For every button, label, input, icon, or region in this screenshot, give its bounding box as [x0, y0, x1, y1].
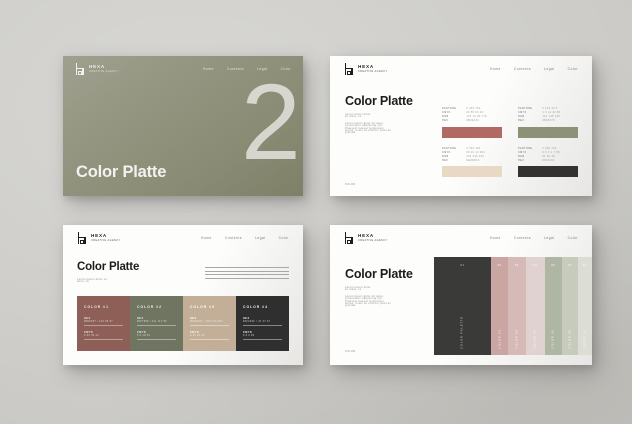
color-chip-4 — [518, 166, 578, 177]
color-chip-3 — [442, 166, 502, 177]
card-value: 0 11 23 24 — [190, 334, 229, 337]
slide-swatch-specs[interactable]: HEXA CREATIVE AGENCY Home Contents Legal… — [330, 56, 592, 196]
rule-line — [205, 278, 289, 279]
card-divider — [84, 325, 123, 326]
spec-rows: PANTONE 2 332 119 CMYK 00 10 14 004 RGB … — [442, 148, 502, 163]
cards-topbar: HEXA CREATIVE AGENCY Home Contents Legal… — [63, 225, 303, 251]
spec-rows: PANTONE 2 145 33 0 CMYK 1 0 14 32 86 RGB… — [518, 108, 578, 123]
spec-key: CMYK — [442, 152, 456, 155]
brand-logo[interactable]: HEXA CREATIVE AGENCY — [75, 63, 119, 75]
color-strip-3[interactable]: 03 COLOR 03 — [508, 257, 525, 355]
nav-item-legal[interactable]: Legal — [255, 236, 266, 240]
nav-item-legal[interactable]: Legal — [544, 67, 555, 71]
color-spec-3[interactable]: PANTONE 2 332 119 CMYK 00 10 14 004 RGB … — [442, 148, 502, 178]
color-chip-1 — [442, 127, 502, 138]
spec-key: RGB — [518, 156, 532, 159]
card-value: 0 0 0 82 — [243, 334, 282, 337]
nav-item-home[interactable]: Home — [203, 67, 214, 71]
color-strip-2[interactable]: 02 COLOR 02 — [491, 257, 508, 355]
brand-wordmark: HEXA CREATIVE AGENCY — [91, 234, 121, 243]
color-card-3[interactable]: COLOR #3 HEX #C3AE97 / 195 174 151 CMYK … — [183, 296, 236, 351]
card-value: #C3AE97 / 195 174 151 — [190, 320, 229, 323]
specs-grid: PANTONE 2 345 762 CMYK 00 55 60 23 RGB 1… — [442, 108, 578, 177]
card-value: #2F2F2F / 47 47 47 — [243, 320, 282, 323]
brand-wordmark: HEXA CREATIVE AGENCY — [358, 234, 388, 243]
cards-nav: Home Contents Legal Color — [201, 236, 289, 240]
nav-item-home[interactable]: Home — [490, 67, 501, 71]
spec-value: 2 332 119 — [466, 148, 502, 151]
cards-subcopy: Lorem ipsum dolor sit amet, co — [77, 279, 137, 284]
strips-topbar: HEXA CREATIVE AGENCY Home Contents Legal… — [330, 225, 592, 251]
nav-item-home[interactable]: Home — [201, 236, 212, 240]
hexa-monogram-icon — [77, 232, 87, 244]
card-divider — [190, 339, 229, 340]
card-value: #8E5F57 / 142 95 87 — [84, 320, 123, 323]
spec-value: #E9D8C3 — [466, 160, 502, 163]
color-strip-5[interactable]: 05 COLOR 05 — [545, 257, 562, 355]
specs-nav: Home Contents Legal Color — [490, 67, 578, 71]
brand-wordmark: HEXA CREATIVE AGENCY — [89, 65, 119, 74]
hexa-monogram-icon — [75, 63, 85, 75]
card-value: 0 33 39 44 — [84, 334, 123, 337]
strip-label: COLOR 05 — [552, 329, 555, 349]
spec-key: PANTONE — [442, 148, 456, 151]
card-label: COLOR #1 — [84, 305, 123, 309]
decorative-rules — [205, 267, 289, 279]
color-spec-2[interactable]: PANTONE 2 145 33 0 CMYK 1 0 14 32 86 RGB… — [518, 108, 578, 138]
spec-value: 00 10 14 004 — [466, 152, 502, 155]
color-strip-6[interactable]: 06 COLOR 06 — [562, 257, 578, 355]
nav-item-contents[interactable]: Contents — [514, 236, 531, 240]
spec-value: #333230 — [542, 160, 578, 163]
cards-title: Color Platte — [77, 261, 139, 273]
nav-item-color[interactable]: Color — [568, 236, 578, 240]
nav-item-legal[interactable]: Legal — [544, 236, 555, 240]
card-divider — [84, 339, 123, 340]
brand-tagline: CREATIVE AGENCY — [358, 71, 388, 74]
card-value: 5 0 18 54 — [137, 334, 176, 337]
hexa-monogram-icon — [344, 63, 354, 75]
brand-logo[interactable]: HEXA CREATIVE AGENCY — [344, 232, 388, 244]
spec-key: HEX — [518, 160, 532, 163]
card-row: HEX #6F7560 / 111 117 96 — [137, 317, 176, 326]
rule-line — [205, 267, 289, 268]
spec-value: 0 0 0 1 7 88 — [542, 152, 578, 155]
card-row: CMYK 0 0 0 82 — [243, 331, 282, 340]
card-row: HEX #2F2F2F / 47 47 47 — [243, 317, 282, 326]
strip-top-label: 04 — [533, 264, 537, 267]
strip-top-label: 03 — [515, 264, 519, 267]
specs-lead-copy: Lorem ipsum dolor sit amet, co Lorem ips… — [345, 114, 423, 135]
spec-rows: PANTONE 2 345 762 CMYK 00 55 60 23 RGB 1… — [442, 108, 502, 123]
spec-value: 51 50 48 — [542, 156, 578, 159]
spec-value: #B06A63 — [466, 120, 502, 123]
specs-footnote: COLOR — [345, 184, 355, 186]
cover-title: Color Platte — [76, 163, 166, 182]
strips-title: Color Platte — [345, 267, 413, 281]
brand-tagline: CREATIVE AGENCY — [358, 240, 388, 243]
lead-line-7: gravida. — [345, 305, 415, 307]
spec-value: #8D9178 — [542, 120, 578, 123]
brand-name: HEXA — [91, 234, 121, 239]
brand-name: HEXA — [89, 65, 119, 70]
brand-tagline: CREATIVE AGENCY — [91, 240, 121, 243]
color-strip-1[interactable]: 01 COLOR PALETTE — [434, 257, 491, 355]
spec-value: 233 216 195 — [466, 156, 502, 159]
cover-slide-number: 2 — [241, 70, 297, 174]
strip-top-label: 02 — [498, 264, 502, 267]
color-strip-4[interactable]: 04 COLOR 04 — [526, 257, 545, 355]
strips-nav: Home Contents Legal Color — [490, 236, 578, 240]
color-card-2[interactable]: COLOR #2 HEX #6F7560 / 111 117 96 CMYK 5… — [130, 296, 183, 351]
gradient-strip-list: 01 COLOR PALETTE 02 COLOR 02 03 COLOR 03… — [434, 257, 592, 355]
specs-topbar: HEXA CREATIVE AGENCY Home Contents Legal… — [330, 56, 592, 82]
spec-key: RGB — [442, 156, 456, 159]
strip-label: COLOR 03 — [515, 329, 518, 349]
strip-label: COLOR 07 — [583, 329, 586, 349]
card-label: COLOR #2 — [137, 305, 176, 309]
hexa-monogram-icon — [344, 232, 354, 244]
color-card-1[interactable]: COLOR #1 HEX #8E5F57 / 142 95 87 CMYK 0 … — [77, 296, 130, 351]
strip-label: COLOR 04 — [534, 329, 537, 349]
card-row: CMYK 0 33 39 44 — [84, 331, 123, 340]
color-card-list: COLOR #1 HEX #8E5F57 / 142 95 87 CMYK 0 … — [77, 296, 289, 351]
card-divider — [243, 325, 282, 326]
strip-label: COLOR 02 — [498, 329, 501, 349]
nav-item-color[interactable]: Color — [568, 67, 578, 71]
brand-logo[interactable]: HEXA CREATIVE AGENCY — [77, 232, 121, 244]
card-divider — [137, 339, 176, 340]
card-value: #6F7560 / 111 117 96 — [137, 320, 176, 323]
card-label: COLOR #4 — [243, 305, 282, 309]
brand-name: HEXA — [358, 65, 388, 70]
brand-logo[interactable]: HEXA CREATIVE AGENCY — [344, 63, 388, 75]
nav-item-color[interactable]: Color — [279, 236, 289, 240]
strip-top-label: 07 — [583, 264, 587, 267]
slide-board: HEXA CREATIVE AGENCY Home Contents Legal… — [0, 0, 632, 424]
nav-item-contents[interactable]: Contents — [514, 67, 531, 71]
slide-color-cards[interactable]: HEXA CREATIVE AGENCY Home Contents Legal… — [63, 225, 303, 365]
card-row: CMYK 0 11 23 24 — [190, 331, 229, 340]
color-card-4[interactable]: COLOR #4 HEX #2F2F2F / 47 47 47 CMYK 0 0… — [236, 296, 289, 351]
color-spec-4[interactable]: PANTONE 2 902 143 CMYK 0 0 0 1 7 88 RGB … — [518, 148, 578, 178]
strip-top-label: 06 — [568, 264, 572, 267]
brand-tagline: CREATIVE AGENCY — [89, 71, 119, 74]
spec-key: HEX — [518, 120, 532, 123]
spec-rows: PANTONE 2 902 143 CMYK 0 0 0 1 7 88 RGB … — [518, 148, 578, 163]
strip-top-label: 01 — [460, 264, 464, 267]
rule-line — [205, 271, 289, 272]
rule-line — [205, 274, 289, 275]
nav-item-home[interactable]: Home — [490, 236, 501, 240]
specs-title: Color Platte — [345, 94, 413, 108]
color-spec-1[interactable]: PANTONE 2 345 762 CMYK 00 55 60 23 RGB 1… — [442, 108, 502, 138]
color-chip-2 — [518, 127, 578, 138]
strip-label: COLOR 06 — [568, 329, 571, 349]
brand-name: HEXA — [358, 234, 388, 239]
slide-gradient-strips[interactable]: HEXA CREATIVE AGENCY Home Contents Legal… — [330, 225, 592, 365]
card-row: HEX #8E5F57 / 142 95 87 — [84, 317, 123, 326]
nav-item-contents[interactable]: Contents — [225, 236, 242, 240]
brand-wordmark: HEXA CREATIVE AGENCY — [358, 65, 388, 74]
strips-lead-copy: Lorem ipsum dolor sit amet, co Lorem ips… — [345, 287, 415, 308]
strip-top-label: 05 — [551, 264, 555, 267]
strip-label: COLOR PALETTE — [461, 316, 464, 349]
subcopy-line-2: amet, co — [77, 281, 137, 283]
spec-key: CMYK — [518, 152, 532, 155]
card-divider — [190, 325, 229, 326]
card-row: HEX #C3AE97 / 195 174 151 — [190, 317, 229, 326]
color-strip-7[interactable]: 07 COLOR 07 — [578, 257, 592, 355]
spec-key: PANTONE — [518, 148, 532, 151]
lead-line-7: gravida. — [345, 132, 423, 134]
spec-key: HEX — [442, 160, 456, 163]
strips-footnote: COLOR — [345, 351, 355, 353]
spec-value: 2 902 143 — [542, 148, 578, 151]
card-label: COLOR #3 — [190, 305, 229, 309]
slide-cover[interactable]: HEXA CREATIVE AGENCY Home Contents Legal… — [63, 56, 303, 196]
card-divider — [137, 325, 176, 326]
card-divider — [243, 339, 282, 340]
spec-key: HEX — [442, 120, 456, 123]
card-row: CMYK 5 0 18 54 — [137, 331, 176, 340]
